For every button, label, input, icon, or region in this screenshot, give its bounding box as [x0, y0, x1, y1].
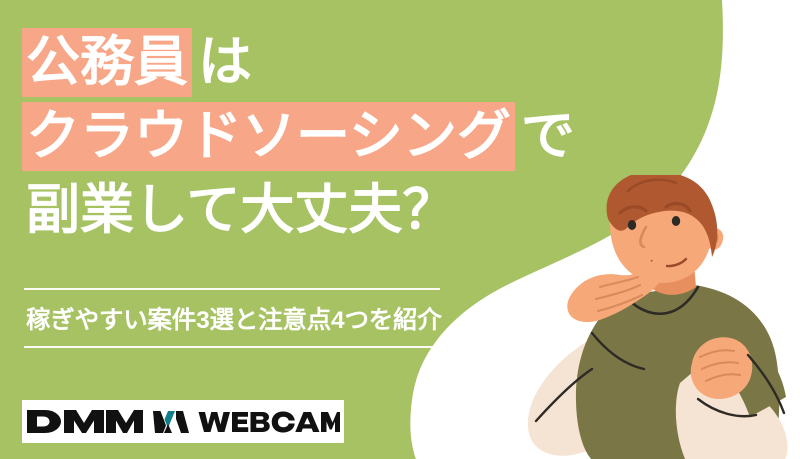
subtitle-text: 稼ぎやすい案件3選と注意点4つを紹介 — [24, 290, 440, 346]
brand-logo[interactable] — [22, 400, 344, 443]
eye-left — [628, 220, 636, 230]
webcamp-w-mark-icon — [153, 409, 189, 435]
headline-plain-1: は — [192, 28, 252, 97]
dmm-wordmark — [26, 408, 144, 435]
subtitle-rule-top — [24, 288, 440, 290]
subtitle-block: 稼ぎやすい案件3選と注意点4つを紹介 — [24, 288, 440, 348]
headline-highlight-1: 公務員 — [22, 28, 192, 97]
banner-canvas: 公務員は クラウドソーシングで 副業して大丈夫？ 稼ぎやすい案件3選と注意点4つ… — [0, 0, 800, 459]
worried-man-illustration — [480, 175, 800, 459]
headline-line-1: 公務員は — [22, 28, 582, 97]
webcamp-wordmark — [198, 410, 340, 434]
subtitle-rule-bottom — [24, 346, 440, 348]
headline-highlight-2: クラウドソーシング — [22, 102, 515, 171]
headline-plain-2: で — [515, 102, 575, 171]
headline-line-2: クラウドソーシングで — [22, 102, 582, 171]
eye-right — [672, 216, 680, 226]
headline-plain-3: 副業して大丈夫？ — [22, 176, 456, 245]
